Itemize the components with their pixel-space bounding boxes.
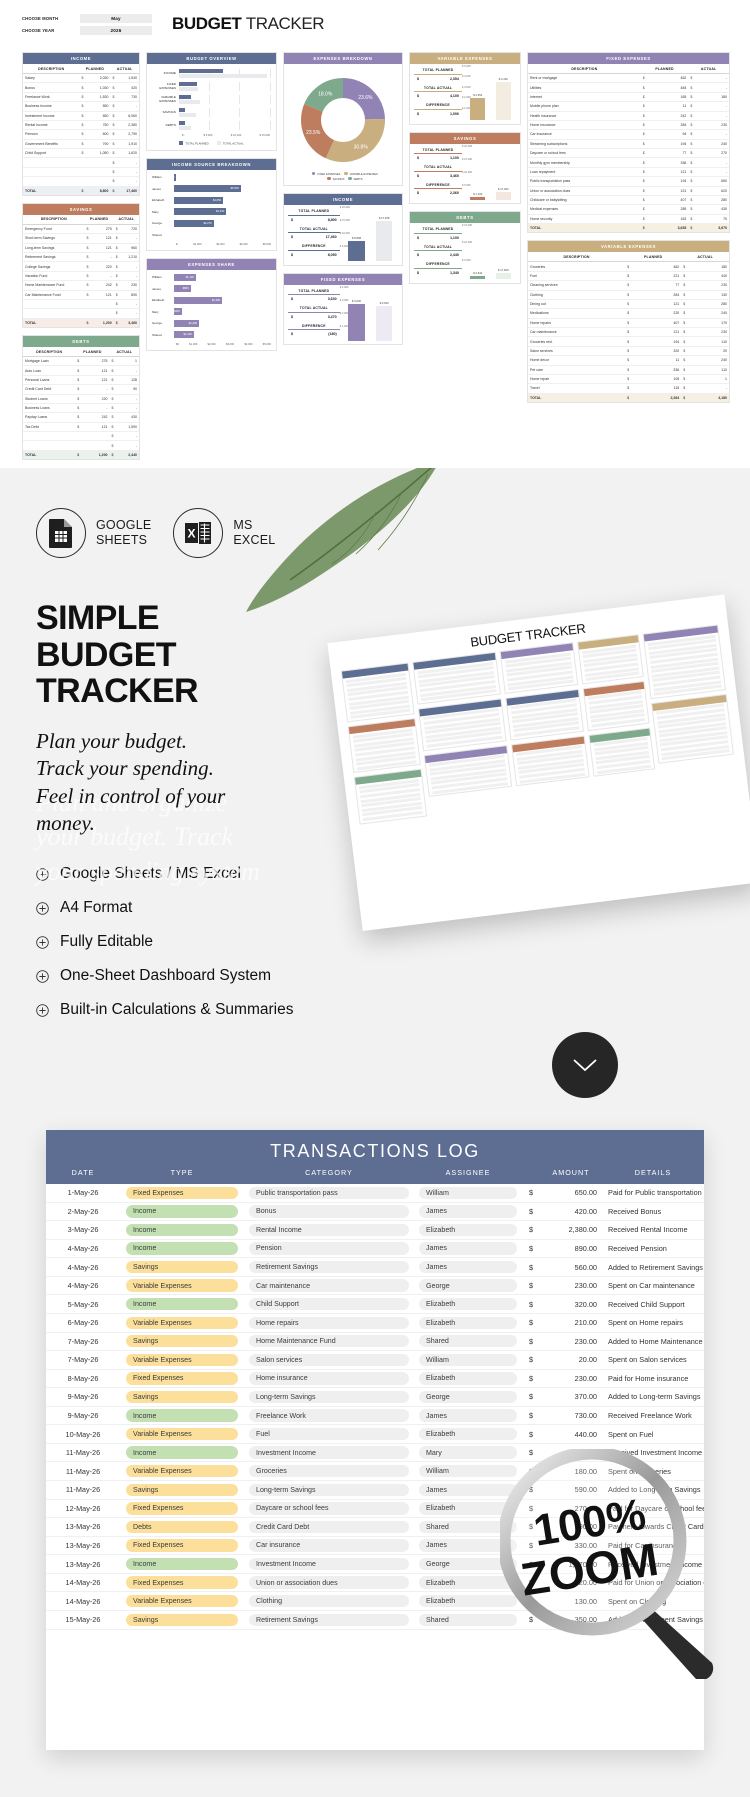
plus-circle-icon	[36, 1004, 49, 1017]
cell-category: Credit Card Debt	[244, 1521, 414, 1533]
cell-date: 6-May-26	[46, 1318, 120, 1327]
cell-amount: 890.00	[540, 1244, 602, 1253]
table-row: Travel$115$-	[528, 384, 729, 393]
cell-type: Income	[120, 1242, 244, 1254]
type-badge: Variable Expenses	[126, 1428, 238, 1440]
fixed-expenses-table-body: Rent or mortgage$462$-Utilities$484$-Int…	[528, 74, 729, 224]
cell-actual: 170	[687, 318, 729, 327]
type-badge: Fixed Expenses	[126, 1539, 238, 1551]
currency: $	[417, 271, 419, 275]
cell-actual: -	[116, 441, 140, 450]
dashboard-preview-section: CHOOSE MONTH May CHOOSE YEAR 2026 BUDGET…	[0, 0, 750, 468]
cell-type: Savings	[120, 1484, 244, 1496]
cell-description: Short-term Savings	[23, 234, 85, 243]
table-row[interactable]: 1-May-26Fixed ExpensesPublic transportat…	[46, 1184, 704, 1203]
cell-actual: 1,910	[116, 139, 139, 148]
axis-tick: $4,000	[244, 343, 252, 346]
savings-total-actual-block: TOTAL ACTUAL $3,460	[414, 165, 462, 178]
assignee-chip: James	[419, 1484, 517, 1496]
variable-kpi-body: TOTAL PLANNED $2,354 TOTAL ACTUAL $4,100…	[410, 64, 520, 124]
bar-planned	[179, 121, 185, 125]
th-description: DESCRIPTION	[23, 215, 85, 225]
axis-tick: $3,000	[226, 343, 234, 346]
cell-planned: 221	[631, 271, 681, 280]
cell-actual: 230	[694, 120, 729, 129]
plus-circle-icon	[36, 868, 49, 881]
currency: $	[291, 332, 293, 336]
cell-actual: 960	[120, 243, 139, 252]
donut-slice-label: 30.8%	[354, 145, 369, 151]
bar-category-label: DEBTS	[153, 124, 179, 128]
dashboard-column-expense-tables: FIXED EXPENSES DESCRIPTION PLANNED ACTUA…	[527, 52, 730, 460]
x-axis-ticks: $0$1,000$2,000$3,000$4,000$5,000	[152, 343, 271, 346]
debts-table-panel: DEBTS DESCRIPTION PLANNED ACTUAL Mortgag…	[22, 335, 140, 460]
cell-actual: 1,590	[116, 422, 140, 431]
table-row[interactable]: 13-May-26DebtsCredit Card DebtShared$90.…	[46, 1518, 704, 1537]
debts-difference-block: DIFFERENCE $1,340	[414, 262, 462, 275]
currency: $	[417, 253, 419, 257]
cell-actual: 430	[116, 413, 140, 422]
cell-description: Home decor	[528, 356, 625, 365]
mockup-panel	[341, 662, 415, 722]
table-row: Home security$163$70	[528, 214, 729, 223]
fixed-expenses-table: DESCRIPTION PLANNED ACTUAL Rent or mortg…	[528, 64, 729, 232]
bar-column: $ 17,400	[496, 192, 511, 200]
category-chip: Car insurance	[249, 1539, 409, 1551]
mockup-title-bold: BUDGET	[470, 628, 524, 649]
cell-description: Utilities	[528, 83, 641, 92]
cell-planned: 11	[631, 356, 681, 365]
fixed-difference-amount: (180)	[328, 332, 336, 336]
choose-year-value[interactable]: 2026	[80, 26, 152, 35]
table-row: Clothing$284$130	[528, 290, 729, 299]
cell-description: Long-term Savings	[23, 243, 85, 252]
table-row: Emergency Fund$275$720	[23, 224, 139, 233]
cell-details: Spent on Fuel	[602, 1430, 704, 1439]
bar-fill	[376, 221, 393, 261]
cell-amount: 230.00	[540, 1337, 602, 1346]
cell-description: Home security	[528, 214, 641, 223]
table-row[interactable]: 4-May-26Variable ExpensesCar maintenance…	[46, 1277, 704, 1296]
savings-table-panel: SAVINGS DESCRIPTION PLANNED ACTUAL Emerg…	[22, 203, 140, 328]
cell-description: Union or association dues	[528, 186, 641, 195]
cell-planned: -	[91, 253, 114, 262]
chart-legend: TOTAL PLANNEDTOTAL ACTUAL	[153, 141, 270, 146]
debts-table-body: Mortgage Loan$275$1Auto Loan$121$-Person…	[23, 357, 139, 451]
cell-category: Home repairs	[244, 1317, 414, 1329]
income-kpi-values: TOTAL PLANNED $8,800 TOTAL ACTUAL $17,46…	[288, 209, 340, 262]
cell-planned: 600	[85, 130, 110, 139]
cell-description: Internet	[528, 92, 641, 101]
table-row[interactable]: 12-May-26Fixed ExpensesDaycare or school…	[46, 1500, 704, 1519]
scroll-down-button[interactable]	[552, 1032, 618, 1098]
cell-description: Student Loans	[23, 394, 75, 403]
assignee-chip: James	[419, 1539, 517, 1551]
assignee-chip: Shared	[419, 1521, 517, 1533]
cell-category: Car maintenance	[244, 1279, 414, 1291]
cell-planned: 94	[647, 130, 689, 139]
dashboard-column-tables: INCOME DESCRIPTION PLANNED ACTUAL Salary…	[22, 52, 140, 460]
badge-line-2: SHEETS	[96, 533, 151, 548]
table-row[interactable]: 9-May-26SavingsLong-term SavingsGeorge$3…	[46, 1388, 704, 1407]
cell-planned: 220	[81, 394, 109, 403]
column-header-details[interactable]: DETAILS	[602, 1168, 704, 1177]
cell-planned: 462	[647, 74, 689, 83]
variable-expenses-table-panel: VARIABLE EXPENSES DESCRIPTION PLANNED AC…	[527, 240, 730, 403]
cell-planned: 121	[631, 299, 681, 308]
bar-row: Elizabeth$2,480	[152, 297, 271, 304]
mockup-sheet: BUDGET TRACKER	[327, 594, 750, 931]
cell-actual: 230	[120, 281, 139, 290]
bar-column: $ 17,458	[376, 221, 393, 261]
plus-circle-icon	[36, 936, 49, 949]
income-kpi-panel: INCOME TOTAL PLANNED $8,800 TOTAL ACTUAL…	[283, 193, 403, 266]
cell-planned: 220	[91, 262, 114, 271]
table-row[interactable]: 11-May-26Variable ExpensesGroceriesWilli…	[46, 1462, 704, 1481]
transactions-log-section: TRANSACTIONS LOG DATE TYPE CATEGORY ASSI…	[0, 1098, 750, 1797]
axis-tick: $2,000	[208, 343, 216, 346]
table-row[interactable]: 15-May-26SavingsRetirement SavingsShared…	[46, 1611, 704, 1630]
type-badge: Savings	[126, 1614, 238, 1626]
bar-fill	[376, 306, 393, 341]
table-row[interactable]: 13-May-26Fixed ExpensesCar insuranceJame…	[46, 1537, 704, 1556]
mockup-panel	[499, 642, 578, 693]
cell-description: Child Support	[23, 149, 79, 158]
fixed-expenses-table-header: FIXED EXPENSES	[528, 53, 729, 64]
table-row[interactable]: 5-May-26IncomeChild SupportElizabeth$320…	[46, 1295, 704, 1314]
savings-table: DESCRIPTION PLANNED ACTUAL Emergency Fun…	[23, 215, 139, 327]
bar-category-label: George	[152, 321, 174, 325]
cell-actual: 430	[694, 205, 729, 214]
cell-description: Groceries rent	[528, 337, 625, 346]
cell-category: Rental Income	[244, 1224, 414, 1236]
cell-assignee: William	[414, 1465, 522, 1477]
table-row: Streaming subscriptions$194$240	[528, 139, 729, 148]
column-header-type[interactable]: TYPE	[120, 1168, 244, 1177]
cell-type: Variable Expenses	[120, 1354, 244, 1366]
cell-planned: 1,050	[85, 149, 110, 158]
cell-planned: 750	[85, 120, 110, 129]
cell-currency: $	[522, 1504, 540, 1513]
currency: $	[417, 112, 419, 116]
assignee-chip: James	[419, 1261, 517, 1273]
cell-amount: 320.00	[540, 1300, 602, 1309]
category-chip: Home insurance	[249, 1372, 409, 1384]
axis-tick: $ 5,000	[340, 245, 349, 248]
cell-currency: $	[522, 1188, 540, 1197]
bar-row: Mary$4,310	[152, 208, 271, 215]
cell-assignee: Elizabeth	[414, 1298, 522, 1310]
assignee-chip: Elizabeth	[419, 1298, 517, 1310]
cell-planned: 121	[91, 243, 114, 252]
bar-actual	[179, 87, 198, 91]
cell-currency: $	[522, 1448, 540, 1457]
cell-date: 9-May-26	[46, 1392, 120, 1401]
type-badge: Fixed Expenses	[126, 1187, 238, 1199]
table-row: Home repairs$407$170	[528, 318, 729, 327]
cell-actual: 280	[694, 195, 729, 204]
mockup-panel	[643, 624, 726, 698]
assignee-chip: Elizabeth	[419, 1372, 517, 1384]
bar-value-label: $860	[183, 287, 191, 290]
fixed-total-planned-block: TOTAL PLANNED $3,630	[288, 289, 340, 302]
table-row[interactable]: 9-May-26IncomeFreelance WorkJames$730.00…	[46, 1407, 704, 1426]
cell-amount: 2,060.00	[540, 1448, 602, 1457]
cell-details: Paid for Car insurance	[602, 1541, 704, 1550]
th-description: DESCRIPTION	[23, 64, 79, 74]
bar-category-label: VARIABLE EXPENSES	[153, 96, 179, 103]
cell-planned: 462	[631, 262, 681, 271]
table-row[interactable]: 7-May-26Variable ExpensesSalon servicesW…	[46, 1351, 704, 1370]
type-badge: Fixed Expenses	[126, 1372, 238, 1384]
category-chip: Retirement Savings	[249, 1614, 409, 1626]
income-panel-header: INCOME	[23, 53, 139, 64]
category-chip: Freelance Work	[249, 1409, 409, 1421]
debts-total-label: TOTAL	[23, 450, 75, 459]
bar-value-label: $1,290	[189, 322, 199, 325]
table-row: Health insurance$242$-	[528, 111, 729, 120]
bar-track: $4,050	[174, 197, 271, 204]
cell-description: Investment Income	[23, 111, 79, 120]
table-row: Tax Debt$121$1,590	[23, 422, 139, 431]
table-row: Student Loans$220$-	[23, 394, 139, 403]
choose-year-row: CHOOSE YEAR 2026	[22, 26, 154, 35]
cell-date: 15-May-26	[46, 1615, 120, 1624]
th-planned: PLANNED	[641, 64, 689, 74]
bar-value-label: $ 3,640	[376, 302, 393, 305]
table-row: Car insurance$94$-	[528, 130, 729, 139]
table-row[interactable]: 3-May-26IncomeRental IncomeElizabeth$2,3…	[46, 1221, 704, 1240]
cell-assignee: Elizabeth	[414, 1428, 522, 1440]
assignee-chip: George	[419, 1558, 517, 1570]
column-header-category[interactable]: CATEGORY	[244, 1168, 414, 1177]
table-row: $-	[23, 299, 139, 308]
cell-type: Income	[120, 1446, 244, 1458]
axis-tick: $2,000	[193, 243, 201, 246]
table-row[interactable]: 7-May-26SavingsHome Maintenance FundShar…	[46, 1333, 704, 1352]
cell-category: Fuel	[244, 1428, 414, 1440]
cell-assignee: James	[414, 1409, 522, 1421]
cell-assignee: Elizabeth	[414, 1224, 522, 1236]
cell-description: Pension	[23, 130, 79, 139]
table-row[interactable]: 4-May-26IncomePensionJames$890.00Receive…	[46, 1240, 704, 1259]
cell-category: Freelance Work	[244, 1409, 414, 1421]
table-row: Groceries rent$194$110	[528, 337, 729, 346]
cell-amount: 620.00	[540, 1578, 602, 1587]
th-description: DESCRIPTION	[528, 252, 625, 262]
cell-amount: 590.00	[540, 1485, 602, 1494]
table-row: Medications$220$240	[528, 309, 729, 318]
cell-category: Car insurance	[244, 1539, 414, 1551]
bar-planned	[179, 95, 191, 99]
table-row[interactable]: 13-May-26IncomeInvestment IncomeGeorge$1…	[46, 1555, 704, 1574]
cell-assignee: George	[414, 1279, 522, 1291]
bar-fill: $5,500	[174, 185, 241, 192]
cell-description: Payday Loans	[23, 413, 75, 422]
cell-description: Travel	[528, 384, 625, 393]
cell-actual: -	[116, 158, 139, 167]
cell-actual: -	[116, 394, 140, 403]
table-row[interactable]: 8-May-26Fixed ExpensesHome insuranceEliz…	[46, 1370, 704, 1389]
cell-date: 13-May-26	[46, 1560, 120, 1569]
bar-value-label: $2,480	[212, 299, 222, 302]
table-header-row: DESCRIPTION PLANNED ACTUAL	[23, 64, 139, 74]
debts-table: DESCRIPTION PLANNED ACTUAL Mortgage Loan…	[23, 347, 139, 459]
table-row: Salary$2,030$1,540	[23, 74, 139, 83]
cell-details: Spent on Salon services	[602, 1355, 704, 1364]
cell-amount: 20.00	[540, 1355, 602, 1364]
cell-details: Added to Retirement Savings	[602, 1263, 704, 1272]
cell-actual: 128	[116, 375, 140, 384]
debts-actual-amount: 2,440	[450, 253, 459, 257]
cell-planned	[85, 177, 110, 186]
cell-assignee: Shared	[414, 1521, 522, 1533]
cell-type: Savings	[120, 1261, 244, 1273]
variable-expenses-table-body: Groceries$462$180Fuel$221$440Cleaning se…	[528, 262, 729, 393]
dashboard-column-variable: VARIABLE EXPENSES TOTAL PLANNED $2,354 T…	[409, 52, 521, 460]
assignee-chip: Elizabeth	[419, 1428, 517, 1440]
axis-tick: $ 5,000	[462, 259, 471, 262]
choose-month-value[interactable]: May	[80, 14, 152, 23]
axis-tick: $ 15,000	[462, 224, 472, 227]
cell-planned	[85, 158, 110, 167]
table-row[interactable]: 4-May-26SavingsRetirement SavingsJames$5…	[46, 1258, 704, 1277]
kpi-value-row: $3,630	[288, 295, 340, 301]
fixed-expenses-kpi-chart: $ 1,000$ 2,000$ 3,000$ 4,000$ 3,630$ 3,6…	[340, 289, 398, 342]
table-row[interactable]: 14-May-26Variable ExpensesClothingElizab…	[46, 1592, 704, 1611]
column-header-date[interactable]: DATE	[46, 1168, 120, 1177]
cell-assignee: James	[414, 1242, 522, 1254]
kpi-value-row: $2,440	[414, 251, 462, 257]
legend-item: SAVINGS	[323, 178, 344, 181]
debts-total-planned: 1,200	[81, 450, 109, 459]
cell-planned: 121	[91, 234, 114, 243]
cell-description: Salon services	[528, 346, 625, 355]
mockup-panel	[424, 745, 512, 798]
cell-description: Personal Loans	[23, 375, 75, 384]
bar-value-label: $ 2,642	[470, 272, 485, 275]
category-chip: Pension	[249, 1242, 409, 1254]
table-row: Business Income$550$-	[23, 102, 139, 111]
cell-type: Savings	[120, 1614, 244, 1626]
table-row[interactable]: 6-May-26Variable ExpensesHome repairsEli…	[46, 1314, 704, 1333]
debts-kpi-chart: $ 5,000$ 10,000$ 15,000$ 2,642$ 17,600	[462, 227, 516, 280]
feature-label: One-Sheet Dashboard System	[60, 967, 271, 985]
plus-circle-icon	[36, 970, 49, 983]
expenses-breakdown-header: EXPENSES BREKDOWN	[284, 53, 402, 64]
bar-category-label: Elizabeth	[152, 298, 174, 302]
table-row: Mortgage Loan$275$1	[23, 357, 139, 366]
table-row: Daycare or school fees$77$270	[528, 149, 729, 158]
table-row[interactable]: 14-May-26Fixed ExpensesUnion or associat…	[46, 1574, 704, 1593]
assignee-chip: Elizabeth	[419, 1595, 517, 1607]
cell-currency: $	[522, 1615, 540, 1624]
variable-planned-amount: 2,354	[450, 77, 459, 81]
table-row: Pet care$336$110	[528, 365, 729, 374]
kpi-value-row: $4,100	[414, 92, 462, 98]
table-row: $-	[23, 177, 139, 186]
cell-type: Variable Expenses	[120, 1428, 244, 1440]
cell-description	[23, 167, 79, 176]
cell-actual: -	[694, 83, 729, 92]
kpi-value-row: $2,360	[414, 189, 462, 195]
savings-planned-amount: 1,100	[450, 156, 459, 160]
category-chip: Fuel	[249, 1428, 409, 1440]
currency: $	[417, 191, 419, 195]
cell-category: Child Support	[244, 1298, 414, 1310]
table-row: Child Support$1,050$1,620	[23, 149, 139, 158]
savings-kpi-body: TOTAL PLANNED $1,100 TOTAL ACTUAL $3,460…	[410, 144, 520, 204]
bar-value-label: $4,050	[213, 199, 223, 202]
leaf-decoration-icon	[190, 468, 450, 630]
cell-planned: 284	[631, 290, 681, 299]
th-actual: ACTUAL	[110, 347, 140, 357]
promo-sub-line-2: Track your spending.	[36, 755, 330, 782]
cell-description	[23, 177, 79, 186]
column-header-assignee[interactable]: ASSIGNEE	[414, 1168, 522, 1177]
cell-date: 5-May-26	[46, 1300, 120, 1309]
cell-currency: $	[522, 1578, 540, 1587]
debts-kpi-header: DEBTS	[410, 212, 520, 223]
bar-track: $200	[174, 174, 271, 181]
mockup-column	[499, 642, 591, 804]
cell-description: Retirement Savings	[23, 253, 85, 262]
table-row[interactable]: 2-May-26IncomeBonusJames$420.00Received …	[46, 1203, 704, 1222]
cell-description: Auto Loan	[23, 366, 75, 375]
type-badge: Income	[126, 1224, 238, 1236]
column-header-amount[interactable]: AMOUNT	[540, 1168, 602, 1177]
table-row: Dining out$121$280	[528, 299, 729, 308]
bar-fill: $4,310	[174, 208, 226, 215]
cell-type: Savings	[120, 1335, 244, 1347]
table-row: Auto Loan$121$-	[23, 366, 139, 375]
transactions-log-header-row: DATE TYPE CATEGORY ASSIGNEE AMOUNT DETAI…	[46, 1168, 704, 1184]
cell-date: 13-May-26	[46, 1522, 120, 1531]
axis-tick: $1,000	[189, 343, 197, 346]
legend-item: VARIABLE EXPENSES	[340, 173, 377, 176]
bar-value-label: $ 17,400	[496, 188, 511, 191]
cell-description: Monthly gym membership	[528, 158, 641, 167]
cell-details: Received Child Support	[602, 1300, 704, 1309]
cell-date: 2-May-26	[46, 1207, 120, 1216]
category-chip: Car maintenance	[249, 1279, 409, 1291]
cell-assignee: Shared	[414, 1614, 522, 1626]
assignee-chip: Elizabeth	[419, 1224, 517, 1236]
cell-planned: 1,530	[85, 92, 110, 101]
currency: $	[291, 235, 293, 239]
cell-date: 10-May-26	[46, 1430, 120, 1439]
google-sheets-label: GOOGLE SHEETS	[96, 518, 151, 548]
assignee-chip: James	[419, 1205, 517, 1217]
bar-row: Elizabeth$4,050	[152, 197, 271, 204]
variable-total-planned: 2,264	[631, 393, 681, 402]
cell-actual: -	[694, 158, 729, 167]
assignee-chip: William	[419, 1187, 517, 1199]
axis-tick: $ 3,000	[340, 299, 349, 302]
feature-label: Built-in Calculations & Summaries	[60, 1001, 293, 1019]
table-row[interactable]: 10-May-26Variable ExpensesFuelElizabeth$…	[46, 1425, 704, 1444]
table-header-row: DESCRIPTION PLANNED ACTUAL	[23, 215, 139, 225]
table-row[interactable]: 11-May-26SavingsLong-term SavingsJames$5…	[46, 1481, 704, 1500]
table-header-row: DESCRIPTION PLANNED ACTUAL	[528, 252, 729, 262]
table-row[interactable]: 11-May-26IncomeInvestment IncomeMary$2,0…	[46, 1444, 704, 1463]
bar-row: Shared$1,020	[152, 331, 271, 338]
cell-description: Pet care	[528, 365, 625, 374]
bar-value-label: $ 1,100	[470, 193, 485, 196]
cell-amount: 230.00	[540, 1281, 602, 1290]
cell-amount: 270.00	[540, 1504, 602, 1513]
donut-slice-label: 23.5%	[306, 130, 321, 136]
